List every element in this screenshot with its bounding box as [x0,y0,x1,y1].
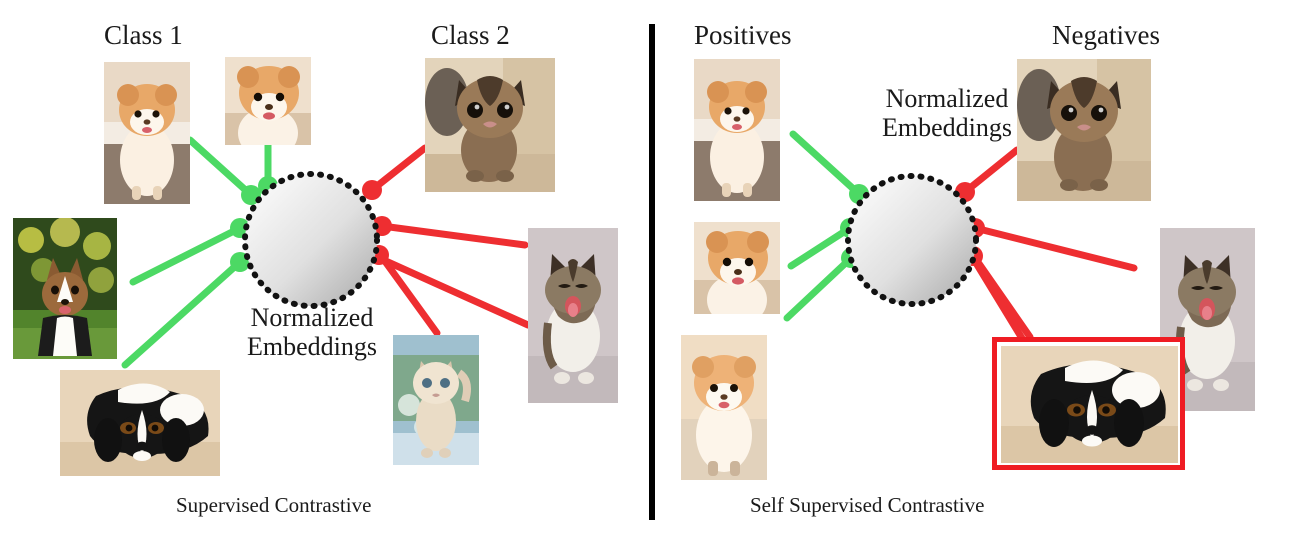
panel-self-supervised-contrastive: Positives Negatives Normalized Embedding… [652,0,1297,551]
normalized-embeddings-label: Normalized Embeddings [212,303,412,361]
panel-supervised-contrastive: Class 1 Class 2 [0,0,652,551]
photo-cavalier-lying[interactable] [60,370,220,476]
class-2-header: Class 2 [431,22,510,49]
photo-corgi-grass[interactable] [13,218,117,359]
negative-nodes [955,182,985,266]
figure-root: Class 1 Class 2 [0,0,1297,551]
photo-kitten-cream[interactable] [393,335,479,465]
normalized-embedding-sphere [848,176,976,304]
photo-kitten-yawning[interactable] [528,228,618,403]
photo-pomeranian-standing-2[interactable] [681,335,767,480]
photo-pomeranian-standing[interactable] [104,62,190,204]
caption-self-supervised-contrastive: Self Supervised Contrastive [750,495,984,516]
photo-kitten-tabby-sitting[interactable] [425,58,555,192]
photo-pomeranian-standing[interactable] [694,59,780,201]
photo-pomeranian-closeup[interactable] [694,222,780,314]
photo-kitten-tabby-sitting[interactable] [1017,59,1151,201]
normalized-embedding-sphere [245,174,377,306]
positive-nodes [230,176,278,272]
photo-pomeranian-closeup[interactable] [225,57,311,145]
negative-nodes [362,180,392,265]
positive-nodes [840,184,869,268]
caption-supervised-contrastive: Supervised Contrastive [176,495,371,516]
positives-header: Positives [694,22,792,49]
class-1-header: Class 1 [104,22,183,49]
positive-edges [787,134,859,318]
false-negative-highlight-box[interactable] [992,337,1185,470]
negatives-header: Negatives [1052,22,1160,49]
photo-cavalier-lying-highlighted[interactable] [1001,346,1178,463]
